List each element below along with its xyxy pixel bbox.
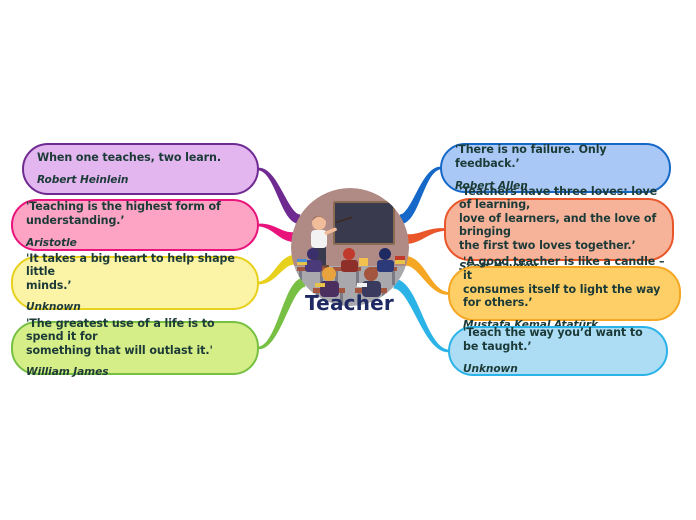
quote-author: Aristotle [26,237,244,249]
mindmap-canvas: When one teaches, two learn.Robert Heinl… [0,0,696,520]
classroom-scene-svg [291,188,409,306]
branch-robert-heinlein [258,168,300,225]
branch-mustafa-kemal-ataturk [405,256,449,295]
branch-william-james [258,277,305,349]
quote-text: When one teaches, two learn. [37,151,244,165]
quote-text: 'The greatest use of a life is to spend … [26,317,244,358]
quote-text: 'Teachers have three loves: love of lear… [459,185,659,253]
quote-author: Robert Heinlein [37,174,244,186]
quote-node-mustafa-kemal-ataturk[interactable]: 'A good teacher is like a candle – it co… [448,266,681,321]
quote-node-william-james[interactable]: 'The greatest use of a life is to spend … [11,321,259,375]
quote-text: 'Teach the way you’d want to be taught.’ [463,326,653,353]
classroom-teacher-illustration [291,188,409,306]
quote-node-unknown-big-heart[interactable]: 'It takes a big heart to help shape litt… [11,256,259,310]
branch-aristotle [258,224,294,242]
quote-author: Unknown [26,301,244,313]
quote-node-unknown-teach-the-way[interactable]: 'Teach the way you’d want to be taught.’… [448,326,668,376]
quote-text: 'A good teacher is like a candle – it co… [463,255,666,309]
branch-unknown-big-heart [258,255,294,285]
quote-node-scott-hayden[interactable]: 'Teachers have three loves: love of lear… [444,198,674,261]
page-title: Teacher [305,291,394,315]
branch-robert-allen [400,167,441,225]
quote-text: 'There is no failure. Only feedback.’ [455,143,656,170]
quote-node-robert-heinlein[interactable]: When one teaches, two learn.Robert Heinl… [22,143,259,195]
quote-author: Unknown [463,363,653,375]
quote-text: 'It takes a big heart to help shape litt… [26,252,244,293]
quote-author: William James [26,366,244,378]
quote-text: 'Teaching is the highest form of underst… [26,200,244,227]
branch-unknown-teach-the-way [394,279,449,353]
quote-node-aristotle[interactable]: 'Teaching is the highest form of underst… [11,199,259,251]
branch-scott-hayden [406,228,445,244]
